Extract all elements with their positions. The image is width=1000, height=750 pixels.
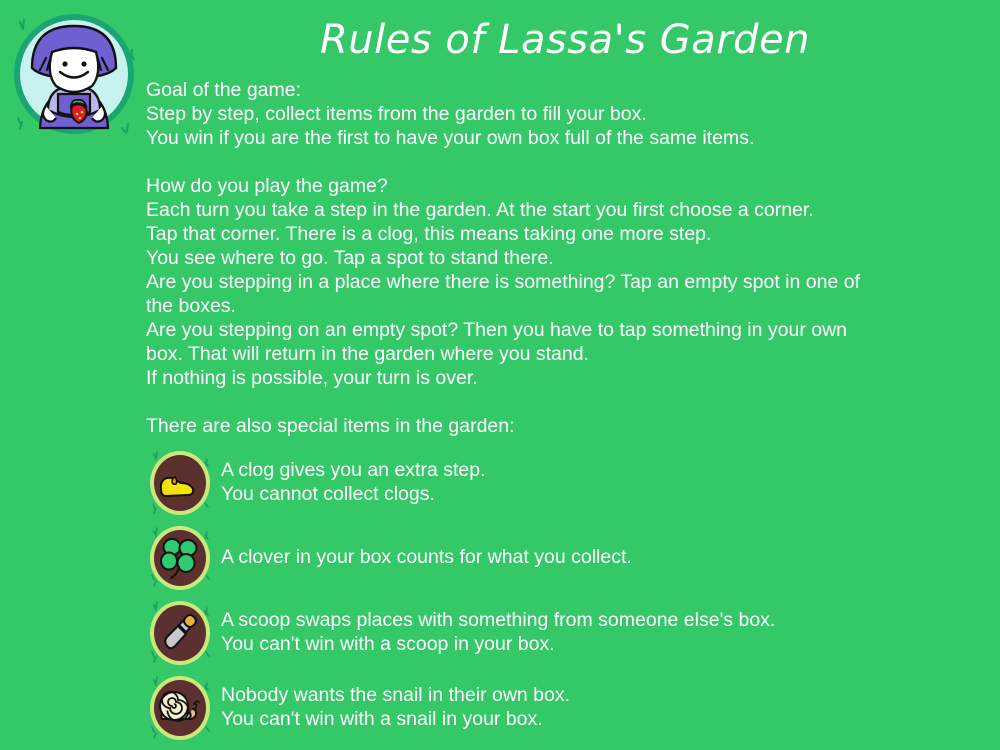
scoop-description: A scoop swaps places with something from… (212, 608, 775, 658)
section-how-to-play: How do you play the game? Each turn you … (146, 174, 872, 390)
clog-strap (172, 477, 177, 484)
page-title: Rules of Lassa's Garden (145, 14, 985, 66)
play-line-5: Are you stepping on an empty spot? Then … (146, 318, 872, 366)
snail-description: Nobody wants the snail in their own box.… (212, 683, 570, 733)
section-goal: Goal of the game: Step by step, collect … (146, 78, 872, 150)
special-items-intro-line: There are also special items in the gard… (146, 414, 872, 438)
play-line-2: Tap that corner. There is a clog, this m… (146, 222, 872, 246)
snail-icon (148, 673, 212, 743)
avatar-eye-right (81, 61, 86, 66)
list-item: Nobody wants the snail in their own box.… (148, 670, 908, 745)
list-item: A scoop swaps places with something from… (148, 595, 908, 670)
scoop-icon (148, 598, 212, 668)
list-item: A clover in your box counts for what you… (148, 520, 908, 595)
avatar (10, 10, 138, 138)
clover-description: A clover in your box counts for what you… (212, 545, 632, 571)
snail-badge (148, 673, 212, 743)
scoop-line-0: A scoop swaps places with something from… (221, 608, 775, 632)
clog-line-1: You cannot collect clogs. (221, 482, 486, 506)
clover-line-0: A clover in your box counts for what you… (221, 545, 632, 569)
clog-line-0: A clog gives you an extra step. (221, 458, 486, 482)
clog-icon (148, 448, 212, 518)
play-line-4: Are you stepping in a place where there … (146, 270, 872, 318)
clog-badge (148, 448, 212, 518)
avatar-face (50, 48, 99, 92)
scoop-handle (184, 615, 196, 627)
rules-body: Goal of the game: Step by step, collect … (146, 78, 872, 438)
scoop-badge (148, 598, 212, 668)
goal-line-0: Goal of the game: (146, 78, 872, 102)
play-line-3: You see where to go. Tap a spot to stand… (146, 246, 872, 270)
scoop-line-1: You can't win with a scoop in your box. (221, 632, 775, 656)
play-line-0: How do you play the game? (146, 174, 872, 198)
clover-icon (148, 523, 212, 593)
play-line-1: Each turn you take a step in the garden.… (146, 198, 872, 222)
avatar-eye-left (62, 61, 67, 66)
snail-line-1: You can't win with a snail in your box. (221, 707, 570, 731)
play-line-6: If nothing is possible, your turn is ove… (146, 366, 872, 390)
goal-line-1: Step by step, collect items from the gar… (146, 102, 872, 126)
clog-description: A clog gives you an extra step. You cann… (212, 458, 486, 508)
list-item: A clog gives you an extra step. You cann… (148, 445, 908, 520)
snail-line-0: Nobody wants the snail in their own box. (221, 683, 570, 707)
avatar-strawberry-icon (71, 104, 86, 123)
clover-badge (148, 523, 212, 593)
avatar-illustration (10, 10, 138, 138)
section-special-items-intro: There are also special items in the gard… (146, 414, 872, 438)
special-items-list: A clog gives you an extra step. You cann… (148, 445, 908, 745)
goal-line-2: You win if you are the first to have you… (146, 126, 872, 150)
